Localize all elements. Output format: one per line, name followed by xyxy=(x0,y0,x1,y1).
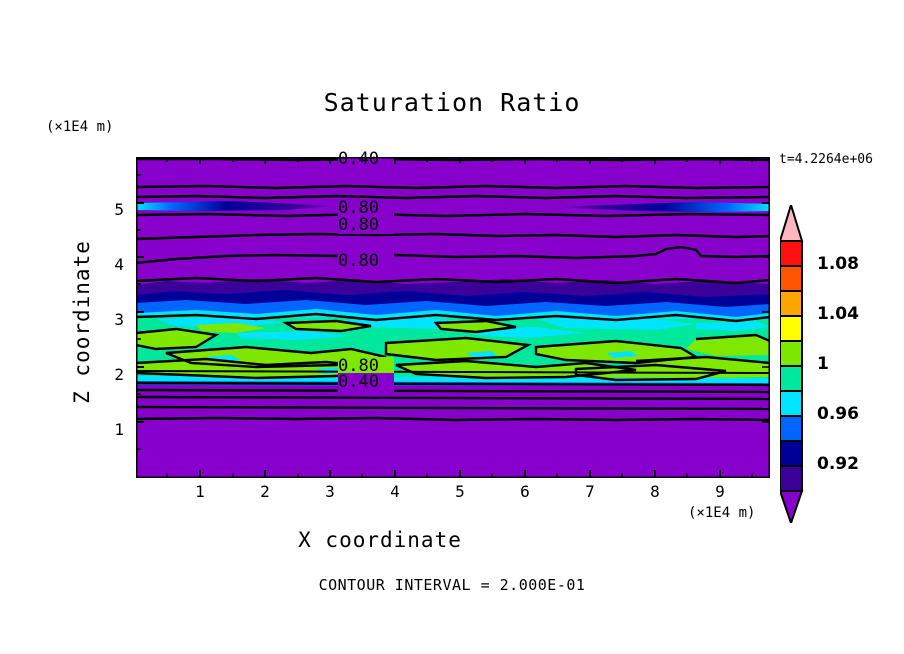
yaxis-unit-label: (×1E4 m) xyxy=(46,119,113,135)
yaxis-title: Z coordinate xyxy=(70,222,94,422)
xtick-label-3: 3 xyxy=(318,482,342,501)
xaxis-title: X coordinate xyxy=(0,528,760,552)
xtick-label-6: 6 xyxy=(513,482,537,501)
ytick-label-2: 2 xyxy=(100,365,124,384)
xtick-label-2: 2 xyxy=(253,482,277,501)
colorbar-label-096: 0.96 xyxy=(817,404,859,424)
ytick-label-4: 4 xyxy=(100,255,124,274)
ytick-label-1: 1 xyxy=(100,420,124,439)
colorbar-swatches xyxy=(780,205,812,523)
figure-root: Saturation Ratio (×1E4 m) t=4.2264e+06 xyxy=(0,0,904,654)
page-title: Saturation Ratio xyxy=(0,88,904,117)
xtick-label-4: 4 xyxy=(383,482,407,501)
xtick-label-9: 9 xyxy=(708,482,732,501)
contour-label-5: 0.40 xyxy=(338,372,379,392)
colorbar-label-1: 1 xyxy=(817,354,829,374)
contour-interval-caption: CONTOUR INTERVAL = 2.000E-01 xyxy=(0,576,904,594)
contour-label-2: 0.80 xyxy=(338,215,379,235)
contour-label-0: 0.40 xyxy=(338,149,379,169)
contour-plot-area: 0.40 0.80 0.80 0.80 0.80 0.40 xyxy=(136,157,770,478)
ytick-label-5: 5 xyxy=(100,200,124,219)
xtick-label-8: 8 xyxy=(643,482,667,501)
xtick-label-7: 7 xyxy=(578,482,602,501)
contour-field xyxy=(136,157,770,478)
colorbar-label-108: 1.08 xyxy=(817,254,859,274)
colorbar: 1.08 1.04 1 0.96 0.92 xyxy=(780,205,812,523)
xtick-label-1: 1 xyxy=(188,482,212,501)
colorbar-label-104: 1.04 xyxy=(817,304,859,324)
colorbar-label-092: 0.92 xyxy=(817,454,859,474)
time-annotation: t=4.2264e+06 xyxy=(779,152,873,167)
xaxis-unit-label: (×1E4 m) xyxy=(688,505,755,521)
contour-label-3: 0.80 xyxy=(338,251,379,271)
xtick-label-5: 5 xyxy=(448,482,472,501)
ytick-label-3: 3 xyxy=(100,310,124,329)
